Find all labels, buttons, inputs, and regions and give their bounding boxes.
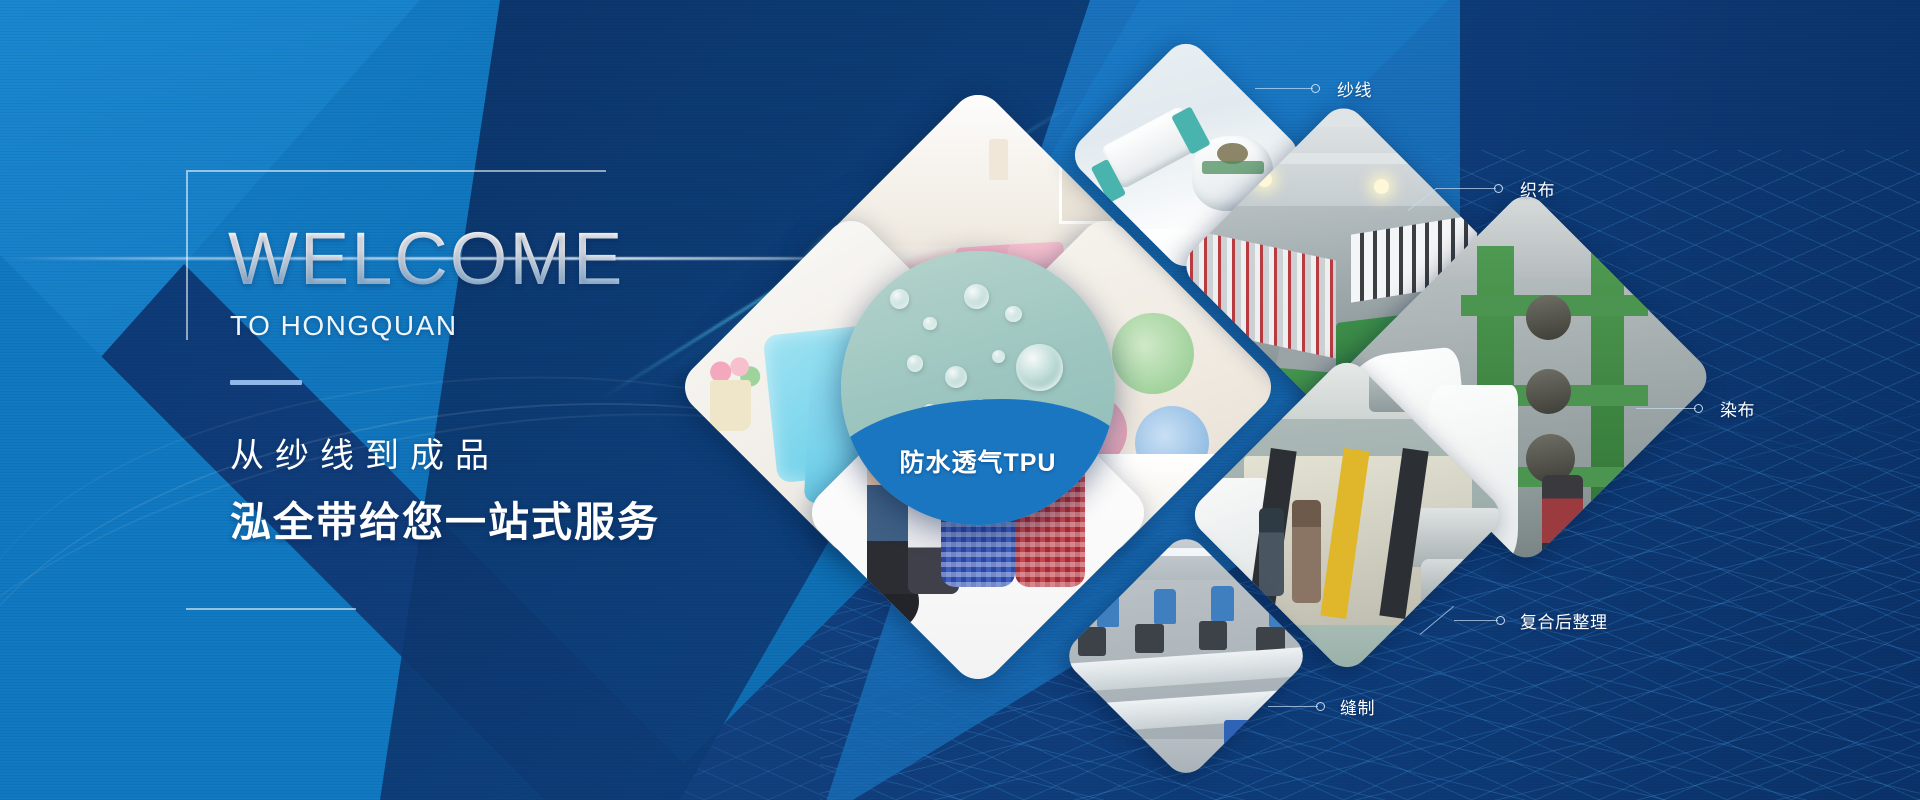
lamination-worker-1 (1259, 508, 1285, 596)
sewing-worker-2 (1154, 589, 1176, 624)
water-droplet (923, 317, 937, 331)
vase (710, 380, 751, 432)
page-subtitle: TO HONGQUAN (230, 310, 458, 342)
water-droplet (907, 355, 923, 371)
mat-roll-green (1112, 313, 1193, 394)
water-droplet (890, 289, 909, 308)
dye-roller-1 (1526, 295, 1571, 340)
headline-cn: 泓全带给您一站式服务 (230, 488, 660, 548)
center-badge[interactable]: 防水透气TPU (841, 251, 1115, 525)
tagline-cn: 从纱线到成品 (230, 428, 500, 477)
lamination-worker-2 (1292, 500, 1321, 603)
water-droplet (1005, 306, 1021, 322)
sewing-machine-3 (1199, 621, 1228, 650)
bedroom-lamp (989, 139, 1008, 180)
ceiling-lamp-2 (1374, 179, 1389, 194)
sewing-machine-2 (1135, 624, 1164, 653)
sewing-worker-3 (1211, 586, 1233, 621)
badge-label: 防水透气TPU (841, 443, 1115, 479)
dye-roller-2 (1526, 369, 1571, 414)
bottom-divider (186, 608, 356, 610)
accent-rule (230, 380, 302, 385)
page-title: WELCOME (228, 222, 624, 296)
welcome-banner: WELCOME TO HONGQUAN 从纱线到成品 泓全带给您一站式服务 (0, 0, 1920, 800)
water-droplet-large (1016, 344, 1063, 391)
water-droplet (992, 350, 1006, 364)
yarn-cone-ring (1202, 161, 1264, 173)
water-droplet (964, 284, 989, 309)
water-droplet (945, 366, 967, 388)
